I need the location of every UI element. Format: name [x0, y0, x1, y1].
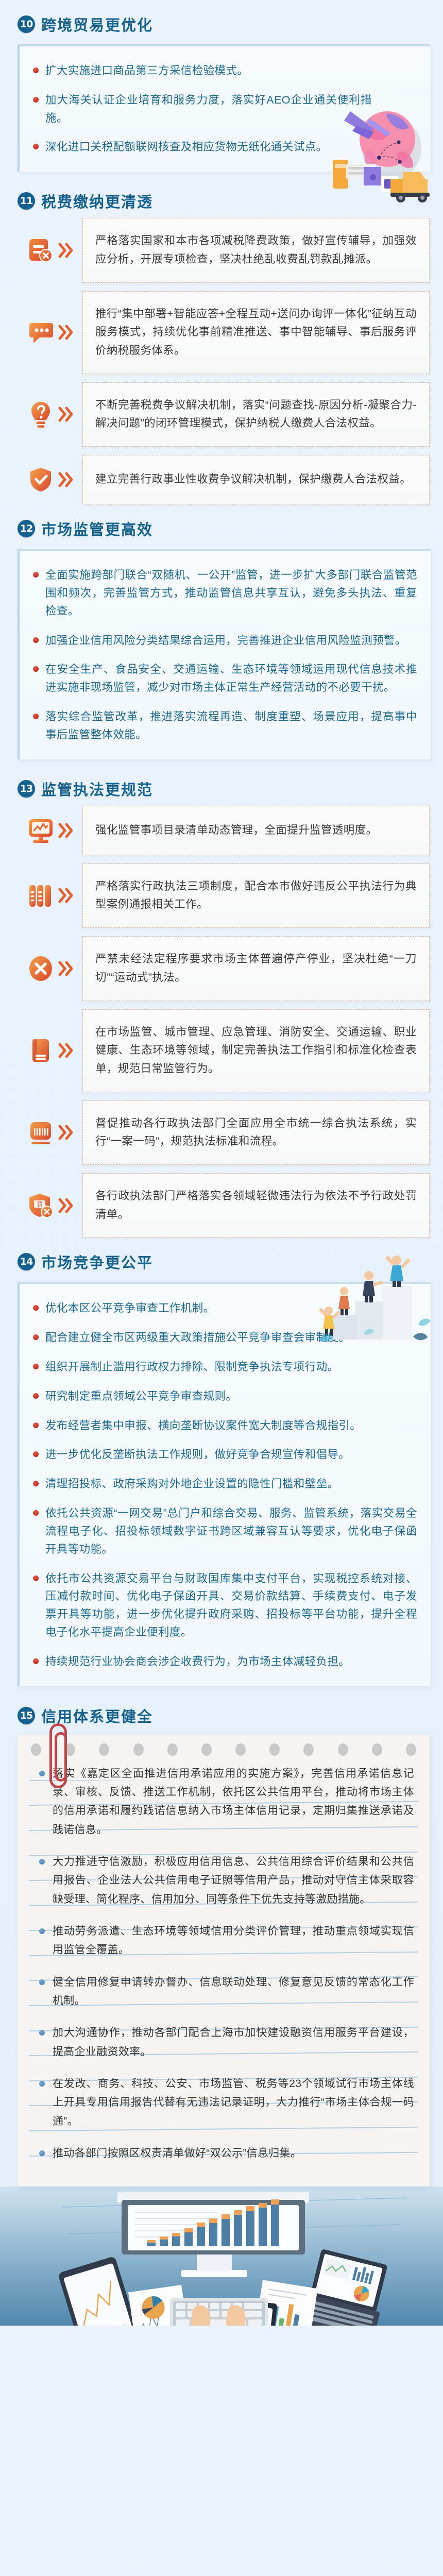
hole — [269, 1743, 280, 1756]
book-icon — [26, 1036, 55, 1065]
desk-with-monitor-charts-icon — [0, 2187, 443, 2326]
list-item: 配合建立健全市区两级重大政策措施公平竞争审查会审制度。 — [32, 1329, 417, 1347]
icon-group — [18, 881, 82, 910]
icon-row: 严禁未经法定程序要求市场主体普遍停产停业，坚决杜绝“一刀切”“运动式”执法。 — [18, 936, 430, 1001]
icon-row-text-box: 强化监管事项目录清单动态管理，全面提升监管透明度。 — [82, 806, 430, 855]
bullet-card: 优化本区公平竞争审查工作机制。 配合建立健全市区两级重大政策措施公平竞争审查会审… — [18, 1282, 431, 1686]
list-item: 深化进口关税配额联网核查及相应货物无纸化通关试点。 — [32, 138, 417, 156]
notepad-card: 落实《嘉定区全面推进信用承诺应用的实施方案》，完善信用承诺信息记录、审核、反馈、… — [18, 1735, 430, 2187]
list-item: 不断完善税费争议解决机制，落实“问题查找-原因分析-凝聚合力-解决问题”的闭环管… — [95, 396, 417, 433]
double-chevron-right-icon — [58, 324, 74, 341]
paperclip-icon — [49, 1723, 67, 1788]
section-body-10: 扩大实施进口商品第三方采信检验模式。 加大海关认证企业培育和服务力度，落实好AE… — [0, 44, 443, 172]
section-header-15: 15 信用体系更健全 — [0, 1691, 443, 1733]
list-item: 持续规范行业协会商会涉企收费行为，为市场主体减轻负担。 — [32, 1653, 417, 1671]
icon-row: 在市场监管、城市管理、应急管理、消防安全、交通运输、职业健康、生态环境等领域，制… — [18, 1009, 430, 1092]
section-header-14: 14 市场竞争更公平 — [0, 1238, 443, 1279]
bullet-card: 全面实施跨部门联合“双随机、一公开”监管，进一步扩大多部门联合监管范围和频次，完… — [18, 549, 431, 759]
section-header-10: 10 跨境贸易更优化 — [0, 0, 443, 41]
hole — [372, 1743, 382, 1756]
bullet-list: 全面实施跨部门联合“双随机、一公开”监管，进一步扩大多部门联合监管范围和频次，完… — [32, 566, 417, 744]
infographic-page: 10 跨境贸易更优化 扩大实施进口商品第三方采信检验模式。 加大海关认证企业培育… — [0, 0, 443, 2326]
icon-row-text-box: 督促推动各行政执法部门全面应用全市统一综合执法系统，实行“一案一码”，规范执法标… — [82, 1100, 430, 1165]
document-minus-error-icon — [26, 236, 55, 265]
double-chevron-right-icon — [58, 471, 74, 488]
list-item: 强化监管事项目录清单动态管理，全面提升监管透明度。 — [95, 821, 378, 840]
list-item: 严禁未经法定程序要求市场主体普遍停产停业，坚决杜绝“一刀切”“运动式”执法。 — [95, 950, 417, 987]
list-item: 扩大实施进口商品第三方采信检验模式。 — [32, 62, 417, 80]
list-item: 推行“集中部署+智能应答+全程互动+送问办询评一体化”征纳互动服务模式，持续优化… — [95, 305, 417, 360]
hole — [99, 1743, 109, 1756]
icon-group — [18, 1118, 82, 1147]
icon-group — [18, 465, 82, 494]
double-chevron-right-icon — [58, 1042, 74, 1059]
list-item: 加大沟通协作，推动各部门配合上海市加快建设融资信用服务平台建设，提高企业融资效率… — [38, 2024, 414, 2061]
icon-group — [18, 816, 82, 845]
double-chevron-right-icon — [58, 960, 74, 977]
list-item: 全面实施跨部门联合“双随机、一公开”监管，进一步扩大多部门联合监管范围和频次，完… — [32, 566, 417, 620]
icon-row-text-box: 不断完善税费争议解决机制，落实“问题查找-原因分析-凝聚合力-解决问题”的闭环管… — [82, 382, 430, 447]
icon-row-text-box: 建立完善行政事业性收费争议解决机制，保护缴费人合法权益。 — [82, 455, 430, 504]
double-chevron-right-icon — [58, 822, 74, 839]
list-item: 推动各部门按照区权责清单做好“双公示”信息归集。 — [38, 2144, 414, 2163]
double-chevron-right-icon — [58, 887, 74, 904]
hole — [338, 1743, 348, 1756]
svg-text:罚: 罚 — [37, 1201, 43, 1208]
icon-row: 建立完善行政事业性收费争议解决机制，保护缴费人合法权益。 — [18, 455, 430, 504]
section-title: 税费缴纳更清透 — [41, 190, 153, 212]
bullet-list: 扩大实施进口商品第三方采信检验模式。 加大海关认证企业培育和服务力度，落实好AE… — [32, 62, 417, 156]
icon-row-text-box: 严格落实国家和本市各项减税降费政策，做好宣传辅导，加强效应分析，开展专项检查，坚… — [82, 218, 430, 282]
list-item: 严格落实行政执法三项制度，配合本市做好违反公平执法行为典型案例通报相关工作。 — [95, 877, 417, 914]
section-body-11: 严格落实国家和本市各项减税降费政策，做好宣传辅导，加强效应分析，开展专项检查，坚… — [0, 218, 443, 504]
icon-row-text-box: 各行政执法部门严格落实各领域轻微违法行为依法不予行政处罚清单。 — [82, 1173, 430, 1238]
list-item: 加大海关认证企业培育和服务力度，落实好AEO企业通关便利措施。 — [32, 91, 372, 127]
section-number-badge: 11 — [18, 192, 35, 210]
list-item: 落实综合监管改革，推进落实流程再造、制度重塑、场景应用，提高事中事后监管整体效能… — [32, 708, 417, 744]
list-item: 大力推进守信激励，积极应用信用信息、公共信用综合评价结果和公共信用报告、企业法人… — [38, 1853, 414, 1909]
bullet-card: 扩大实施进口商品第三方采信检验模式。 加大海关认证企业培育和服务力度，落实好AE… — [18, 44, 431, 172]
circle-x-icon — [26, 954, 55, 983]
double-chevron-right-icon — [58, 1124, 74, 1141]
notepad-list: 落实《嘉定区全面推进信用承诺应用的实施方案》，完善信用承诺信息记录、审核、反馈、… — [38, 1765, 414, 2163]
icon-row-text-box: 严格落实行政执法三项制度，配合本市做好违反公平执法行为典型案例通报相关工作。 — [82, 863, 430, 928]
shield-check-icon — [26, 465, 55, 494]
section-title: 跨境贸易更优化 — [41, 13, 153, 35]
icon-group — [18, 400, 82, 429]
list-item: 研究制定重点领域公平竞争审查规则。 — [32, 1387, 417, 1405]
icon-row-text-box: 在市场监管、城市管理、应急管理、消防安全、交通运输、职业健康、生态环境等领域，制… — [82, 1009, 430, 1092]
list-item: 优化本区公平竞争审查工作机制。 — [32, 1299, 320, 1317]
list-item: 在市场监管、城市管理、应急管理、消防安全、交通运输、职业健康、生态环境等领域，制… — [95, 1023, 417, 1078]
list-item: 在安全生产、食品安全、交通运输、生态环境等领域运用现代信息技术推进实施非现场监管… — [32, 660, 417, 697]
icon-group — [18, 236, 82, 265]
icon-row: 督促推动各行政执法部门全面应用全市统一综合执法系统，实行“一案一码”，规范执法标… — [18, 1100, 430, 1165]
list-item: 加强企业信用风险分类结果综合运用，完善推进企业信用风险监测预警。 — [32, 632, 417, 650]
hole — [133, 1743, 144, 1756]
double-chevron-right-icon — [58, 242, 74, 259]
section-number-badge: 14 — [18, 1253, 35, 1270]
hole — [303, 1743, 314, 1756]
list-item: 落实《嘉定区全面推进信用承诺应用的实施方案》，完善信用承诺信息记录、审核、反馈、… — [38, 1765, 414, 1839]
list-item: 清理招投标、政府采购对外地企业设置的隐性门槛和壁垒。 — [32, 1475, 417, 1493]
penalty-shield-icon: 罚 — [26, 1191, 55, 1220]
hole — [235, 1743, 246, 1756]
section-title: 信用体系更健全 — [41, 1705, 153, 1726]
list-item: 依托公共资源“一网交易”总门户和综合交易、服务、监管系统，落实交易全流程电子化、… — [32, 1504, 417, 1558]
icon-group: 罚 — [18, 1191, 82, 1220]
section-header-12: 12 市场监管更高效 — [0, 504, 443, 546]
section-title: 市场竞争更公平 — [41, 1251, 153, 1273]
icon-row: 不断完善税费争议解决机制，落实“问题查找-原因分析-凝聚合力-解决问题”的闭环管… — [18, 382, 430, 447]
list-item: 建立完善行政事业性收费争议解决机制，保护缴费人合法权益。 — [95, 470, 411, 489]
section-body-13: 强化监管事项目录清单动态管理，全面提升监管透明度。 — [0, 806, 443, 1238]
icon-row: 严格落实国家和本市各项减税降费政策，做好宣传辅导，加强效应分析，开展专项检查，坚… — [18, 218, 430, 282]
hole — [406, 1743, 416, 1756]
list-item: 进一步优化反垄断执法工作规则，做好竞争合规宣传和倡导。 — [32, 1446, 417, 1464]
list-item: 督促推动各行政执法部门全面应用全市统一综合执法系统，实行“一案一码”，规范执法标… — [95, 1114, 417, 1151]
books-icon — [26, 881, 55, 910]
section-title: 市场监管更高效 — [41, 518, 153, 539]
hole — [201, 1743, 212, 1756]
icon-row-text-box: 严禁未经法定程序要求市场主体普遍停产停业，坚决杜绝“一刀切”“运动式”执法。 — [82, 936, 430, 1001]
notepad-holes — [31, 1743, 416, 1756]
hole — [31, 1743, 41, 1756]
section-header-11: 11 税费缴纳更清透 — [0, 177, 443, 218]
list-item: 组织开展制止滥用行政权力排除、限制竞争执法专项行动。 — [32, 1358, 417, 1376]
bullet-list: 优化本区公平竞争审查工作机制。 配合建立健全市区两级重大政策措施公平竞争审查会审… — [32, 1299, 417, 1670]
icon-row: 强化监管事项目录清单动态管理，全面提升监管透明度。 — [18, 806, 430, 855]
barcode-icon — [26, 1118, 55, 1147]
icon-row: 严格落实行政执法三项制度，配合本市做好违反公平执法行为典型案例通报相关工作。 — [18, 863, 430, 928]
section-number-badge: 15 — [18, 1707, 35, 1724]
section-number-badge: 13 — [18, 780, 35, 798]
question-lightbulb-icon — [26, 400, 55, 429]
section-header-13: 13 监管执法更规范 — [0, 765, 443, 806]
icon-group — [18, 954, 82, 983]
double-chevron-right-icon — [58, 405, 74, 423]
list-item: 健全信用修复申请转办督办、信息联动处理、修复意见反馈的常态化工作机制。 — [38, 1973, 414, 2011]
icon-group — [18, 318, 82, 347]
section-body-14: 优化本区公平竞争审查工作机制。 配合建立健全市区两级重大政策措施公平竞争审查会审… — [0, 1282, 443, 1686]
double-chevron-right-icon — [58, 1197, 74, 1214]
list-item: 严格落实国家和本市各项减税降费政策，做好宣传辅导，加强效应分析，开展专项检查，坚… — [95, 232, 417, 268]
section-number-badge: 10 — [18, 15, 35, 33]
icon-group — [18, 1036, 82, 1065]
monitor-chart-icon — [26, 816, 55, 845]
list-item: 在发改、商务、科技、公安、市场监管、税务等23个领域试行市场主体线上开具专用信用… — [38, 2075, 414, 2131]
list-item: 推动劳务派遣、生态环境等领域信用分类评价管理，推动重点领域实现信用监管全覆盖。 — [38, 1922, 414, 1960]
hole — [167, 1743, 178, 1756]
icon-row-text-box: 推行“集中部署+智能应答+全程互动+送问办询评一体化”征纳互动服务模式，持续优化… — [82, 291, 430, 374]
list-item: 依托市公共资源交易平台与财政国库集中支付平台，实现税控系统对接、压减付款时间、优… — [32, 1570, 417, 1641]
chat-bubble-icon — [26, 318, 55, 347]
icon-row: 罚 各行政执法部门严格落实各领域轻微违法行为依法不予行政处罚清单。 — [18, 1173, 430, 1238]
icon-row: 推行“集中部署+智能应答+全程互动+送问办询评一体化”征纳互动服务模式，持续优化… — [18, 291, 430, 374]
section-title: 监管执法更规范 — [41, 778, 153, 800]
section-number-badge: 12 — [18, 520, 35, 537]
list-item: 发布经营者集中申报、横向垄断协议案件宽大制度等合规指引。 — [32, 1417, 417, 1435]
list-item: 各行政执法部门严格落实各领域轻微违法行为依法不予行政处罚清单。 — [95, 1187, 417, 1224]
